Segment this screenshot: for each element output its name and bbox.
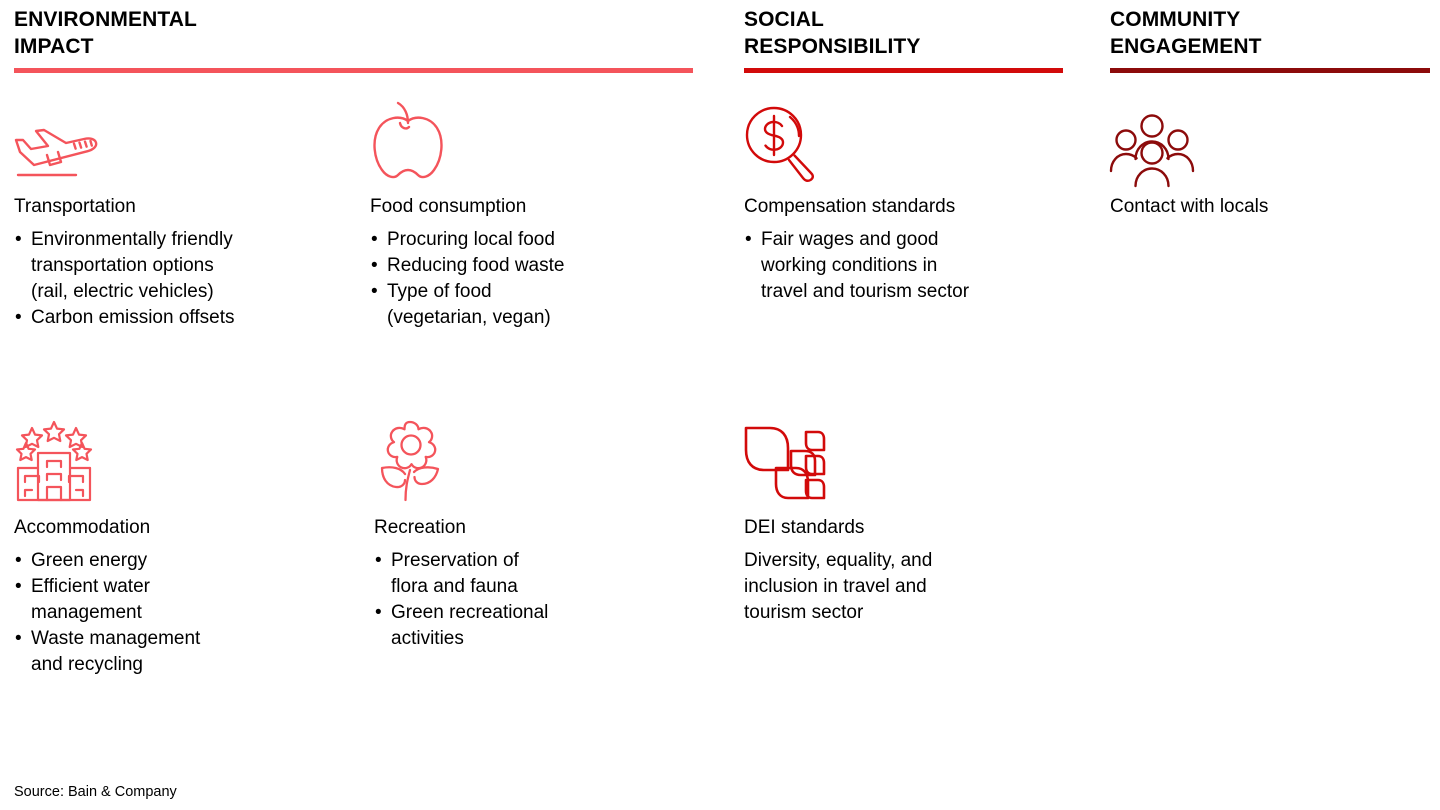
cell-accommodation: Accommodation Green energy Efficient wat… bbox=[14, 418, 344, 678]
column-group-social-responsibility: SOCIAL RESPONSIBILITY bbox=[744, 0, 1063, 73]
apple-icon bbox=[370, 97, 700, 181]
cell-title: Recreation bbox=[374, 516, 704, 540]
slide-canvas: ENVIRONMENTAL IMPACT SOCIAL RESPONSIBILI… bbox=[0, 0, 1440, 810]
column-group-title: COMMUNITY ENGAGEMENT bbox=[1110, 0, 1430, 60]
cell-food-consumption: Food consumption Procuring local food Re… bbox=[370, 97, 700, 331]
cell-title: Compensation standards bbox=[744, 195, 1064, 219]
cell-dei-standards: DEI standards Diversity, equality, and i… bbox=[744, 418, 1064, 626]
airplane-takeoff-icon bbox=[14, 105, 344, 181]
column-group-rule bbox=[744, 68, 1063, 73]
cell-transportation: Transportation Environmentally friendly … bbox=[14, 105, 344, 331]
column-group-environmental-impact: ENVIRONMENTAL IMPACT bbox=[14, 0, 693, 73]
cell-recreation: Recreation Preservation of flora and fau… bbox=[374, 418, 704, 652]
cell-contact-with-locals: Contact with locals bbox=[1110, 104, 1430, 227]
cell-paragraph: Diversity, equality, and inclusion in tr… bbox=[744, 548, 1064, 626]
list-item: Carbon emission offsets bbox=[14, 305, 344, 331]
column-group-rule bbox=[14, 68, 693, 73]
magnifier-dollar-icon bbox=[744, 100, 1064, 181]
list-item: Environmentally friendly transportation … bbox=[14, 227, 344, 305]
list-item: Green recreational activities bbox=[374, 600, 704, 652]
column-group-title: SOCIAL RESPONSIBILITY bbox=[744, 0, 1063, 60]
dei-leaves-icon bbox=[744, 418, 1064, 502]
list-item: Green energy bbox=[14, 548, 344, 574]
hotel-stars-icon bbox=[14, 418, 344, 502]
column-group-community-engagement: COMMUNITY ENGAGEMENT bbox=[1110, 0, 1430, 73]
list-item: Procuring local food bbox=[370, 227, 700, 253]
cell-bullets: Preservation of flora and fauna Green re… bbox=[374, 548, 704, 652]
cell-title: Food consumption bbox=[370, 195, 700, 219]
list-item: Type of food (vegetarian, vegan) bbox=[370, 279, 700, 331]
cell-bullets: Green energy Efficient water management … bbox=[14, 548, 344, 678]
list-item: Fair wages and good working conditions i… bbox=[744, 227, 1064, 305]
cell-bullets: Fair wages and good working conditions i… bbox=[744, 227, 1064, 305]
list-item: Waste management and recycling bbox=[14, 626, 344, 678]
cell-compensation-standards: Compensation standards Fair wages and go… bbox=[744, 100, 1064, 305]
cell-title: Contact with locals bbox=[1110, 195, 1430, 219]
source-note: Source: Bain & Company bbox=[14, 783, 177, 802]
list-item: Reducing food waste bbox=[370, 253, 700, 279]
cell-title: Accommodation bbox=[14, 516, 344, 540]
cell-bullets: Environmentally friendly transportation … bbox=[14, 227, 344, 331]
column-group-rule bbox=[1110, 68, 1430, 73]
group-of-people-icon bbox=[1110, 104, 1430, 181]
column-group-title: ENVIRONMENTAL IMPACT bbox=[14, 0, 693, 60]
flower-icon bbox=[374, 418, 704, 502]
cell-bullets: Procuring local food Reducing food waste… bbox=[370, 227, 700, 331]
cell-title: Transportation bbox=[14, 195, 344, 219]
list-item: Efficient water management bbox=[14, 574, 344, 626]
list-item: Preservation of flora and fauna bbox=[374, 548, 704, 600]
cell-title: DEI standards bbox=[744, 516, 1064, 540]
